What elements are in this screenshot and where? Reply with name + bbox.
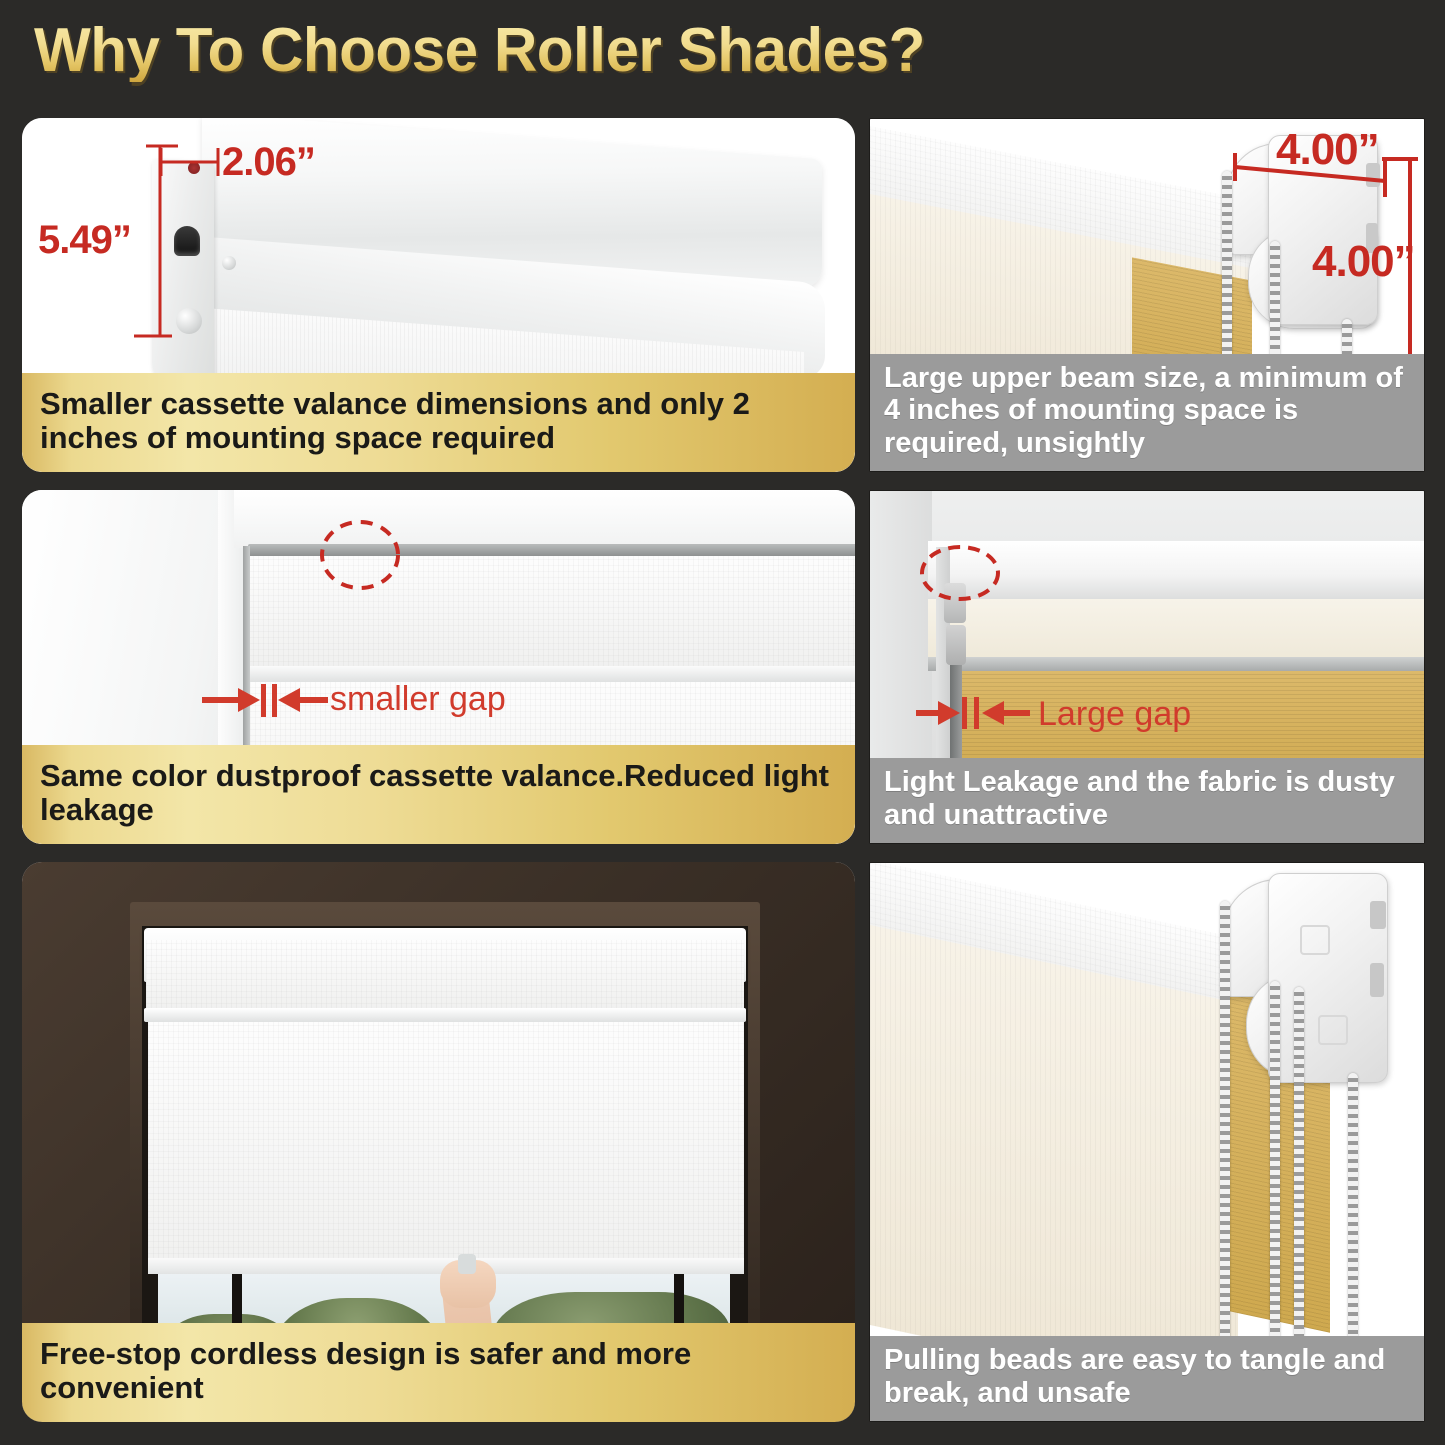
panel-1: 2.06” 5.49” Smaller cassette valance dim… (22, 118, 855, 472)
panel-6-caption: Pulling beads are easy to tangle and bre… (870, 1336, 1424, 1421)
panel-3: smaller gap Same color dustproof cassett… (22, 490, 855, 844)
panel-1-caption: Smaller cassette valance dimensions and … (22, 373, 855, 472)
panel-2: 4.00” 4.00” Large upper beam size, a min… (869, 118, 1425, 472)
panel-5: Free-stop cordless design is safer and m… (22, 862, 855, 1422)
panel-4-caption: Light Leakage and the fabric is dusty an… (870, 758, 1424, 843)
page-title: Why To Choose Roller Shades? (34, 20, 925, 82)
panel-4: Large gap Light Leakage and the fabric i… (869, 490, 1425, 844)
panel-3-caption: Same color dustproof cassette valance.Re… (22, 745, 855, 844)
infographic-root: Why To Choose Roller Shades? Why To Choo… (0, 0, 1445, 1445)
panel-5-caption: Free-stop cordless design is safer and m… (22, 1323, 855, 1422)
panel-2-caption: Large upper beam size, a minimum of 4 in… (870, 354, 1424, 471)
panel-6: Pulling beads are easy to tangle and bre… (869, 862, 1425, 1422)
